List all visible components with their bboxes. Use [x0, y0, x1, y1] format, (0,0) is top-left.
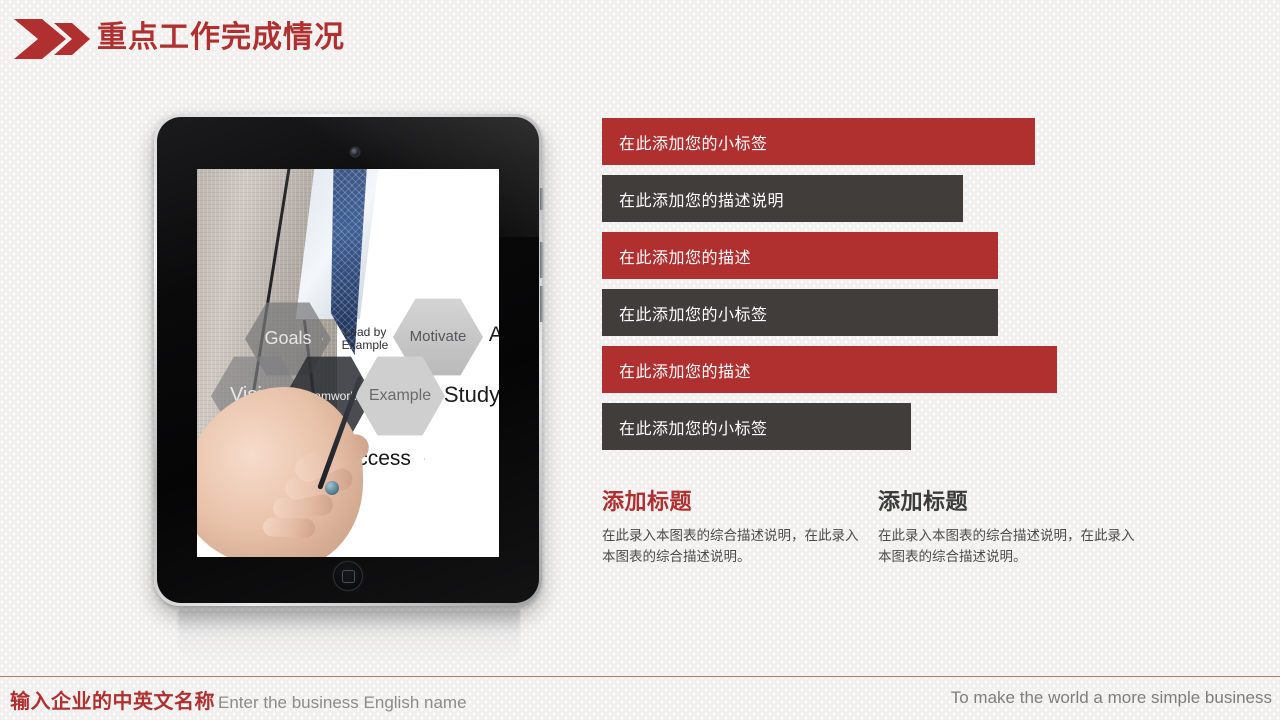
footer-tagline: To make the world a more simple business	[951, 688, 1272, 708]
footer-company-cn: 输入企业的中英文名称	[10, 691, 215, 713]
camera-dot-icon	[351, 148, 359, 156]
hexagon-label: Adv	[489, 324, 499, 347]
bar-label: 在此添加您的小标签	[602, 415, 768, 439]
block-body: 在此录入本图表的综合描述说明，在此录入本图表的综合描述说明。	[878, 525, 1146, 567]
tablet-frame: Goals Lead by Example Motivate Adv V	[154, 114, 542, 606]
tablet-bezel: Goals Lead by Example Motivate Adv V	[157, 117, 539, 603]
horizontal-bar-chart: 在此添加您的小标签 在此添加您的描述说明 在此添加您的描述 在此添加您的小标签 …	[602, 118, 1072, 458]
text-block-right: 添加标题 在此录入本图表的综合描述说明，在此录入本图表的综合描述说明。	[878, 487, 1146, 567]
volume-up-button[interactable]	[540, 242, 544, 278]
tablet-device: Goals Lead by Example Motivate Adv V	[148, 108, 548, 618]
power-button[interactable]	[540, 188, 544, 210]
bar-label: 在此添加您的描述说明	[602, 187, 784, 211]
block-heading: 添加标题	[602, 487, 870, 517]
double-chevron-right-icon	[14, 18, 92, 60]
bar-row[interactable]: 在此添加您的描述	[602, 346, 1057, 393]
slide-canvas: 重点工作完成情况	[0, 0, 1280, 720]
bar-label: 在此添加您的小标签	[602, 130, 768, 154]
tablet-screen: Goals Lead by Example Motivate Adv V	[197, 169, 499, 557]
screen-photo: Goals Lead by Example Motivate Adv V	[197, 169, 499, 557]
footer-company: 输入企业的中英文名称Enter the business English nam…	[10, 685, 467, 714]
bar-label: 在此添加您的描述	[602, 244, 751, 268]
photo-stylus-tip	[325, 481, 339, 495]
bar-row[interactable]: 在此添加您的小标签	[602, 403, 911, 450]
slide-footer: 输入企业的中英文名称Enter the business English nam…	[0, 677, 1280, 720]
bar-row[interactable]: 在此添加您的描述说明	[602, 175, 963, 222]
bar-row[interactable]: 在此添加您的小标签	[602, 289, 998, 336]
photo-finger	[263, 517, 316, 538]
bar-label: 在此添加您的描述	[602, 358, 751, 382]
home-square-icon	[342, 570, 355, 583]
slide-header: 重点工作完成情况	[0, 0, 1280, 78]
tablet-reflection	[178, 610, 520, 662]
hexagon-label: Study	[444, 383, 499, 407]
page-title: 重点工作完成情况	[97, 17, 345, 59]
text-block-left: 添加标题 在此录入本图表的综合描述说明，在此录入本图表的综合描述说明。	[602, 487, 870, 567]
hexagon-label: Motivate	[410, 329, 467, 345]
bar-label: 在此添加您的小标签	[602, 301, 768, 325]
block-heading: 添加标题	[878, 487, 1146, 517]
home-button[interactable]	[333, 561, 363, 591]
block-body: 在此录入本图表的综合描述说明，在此录入本图表的综合描述说明。	[602, 525, 870, 567]
volume-down-button[interactable]	[540, 286, 544, 322]
bar-row[interactable]: 在此添加您的小标签	[602, 118, 1035, 165]
bar-row[interactable]: 在此添加您的描述	[602, 232, 998, 279]
footer-company-en: Enter the business English name	[218, 693, 467, 712]
hexagon-label: Goals	[264, 329, 311, 348]
hexagon-label: Example	[369, 387, 431, 404]
